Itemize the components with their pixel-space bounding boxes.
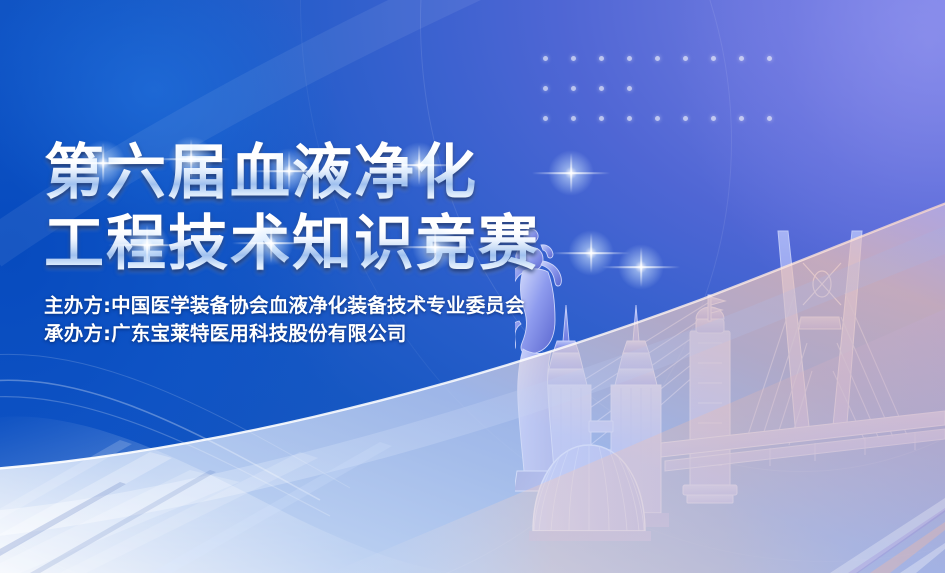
grid-dot [627,116,632,121]
grid-dot [767,56,772,61]
grid-dot [599,86,604,91]
grid-dot [711,56,716,61]
event-title-line-2: 工程技术知识竞赛 [44,211,684,278]
grid-dot [599,116,604,121]
grid-dot [739,56,744,61]
grid-dot [571,56,576,61]
grid-dot [739,116,744,121]
dot-grid-row [543,56,795,61]
grid-dot [683,116,688,121]
grid-dot [711,116,716,121]
grid-dot [627,86,632,91]
grid-dot [655,56,660,61]
dot-grid-row [543,116,795,121]
grid-dot [543,86,548,91]
grid-dot [683,56,688,61]
event-poster: 第六届血液净化 工程技术知识竞赛 主办方:中国医学装备协会血液净化装备技术专业委… [0,0,945,573]
grid-dot [543,116,548,121]
grid-dot [571,116,576,121]
co-organizer-organization: 承办方:广东宝莱特医用科技股份有限公司 [44,320,684,348]
grid-dot [599,56,604,61]
grid-dot [767,116,772,121]
event-title-line-1: 第六届血液净化 [44,140,684,207]
host-organization: 主办方:中国医学装备协会血液净化装备技术专业委员会 [44,292,684,320]
dot-grid-row [543,86,795,91]
organizer-block: 主办方:中国医学装备协会血液净化装备技术专业委员会 承办方:广东宝莱特医用科技股… [44,292,684,347]
grid-dot [543,56,548,61]
grid-dot [655,116,660,121]
poster-text-block: 第六届血液净化 工程技术知识竞赛 主办方:中国医学装备协会血液净化装备技术专业委… [44,140,684,348]
grid-dot [571,86,576,91]
grid-dot [627,56,632,61]
dot-grid-pattern [543,56,795,146]
